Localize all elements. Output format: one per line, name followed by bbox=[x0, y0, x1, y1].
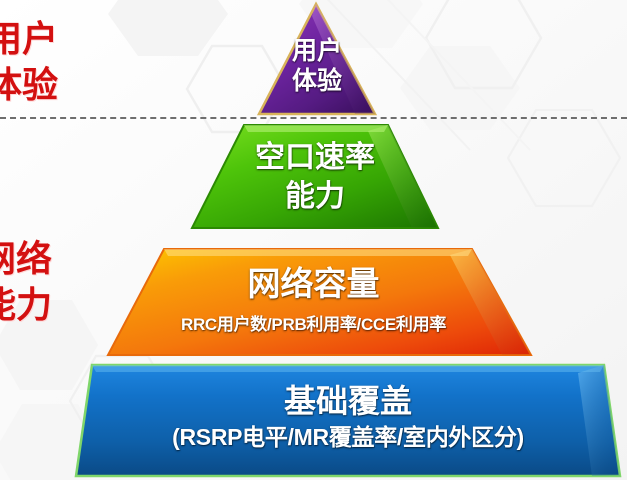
side-label-network-capability-line1: 网络 bbox=[0, 236, 52, 282]
pyramid-tier-air-interface-rate-shape bbox=[186, 120, 444, 234]
pyramid-tier-air-interface-rate[interactable]: 空口速率 能力 bbox=[186, 120, 444, 234]
pyramid-tier-network-capacity-shape bbox=[92, 245, 535, 359]
side-label-user-experience-line1: 用户 bbox=[0, 16, 58, 62]
side-label-network-capability-line2: 能力 bbox=[0, 282, 52, 328]
side-label-user-experience: 用户 体验 bbox=[0, 16, 58, 108]
pyramid-diagram-canvas: 用户 体验 网络 能力 基础覆盖 bbox=[0, 0, 627, 480]
side-label-user-experience-line2: 体验 bbox=[0, 62, 58, 108]
pyramid-tier-user-experience[interactable]: 用户 体验 bbox=[255, 0, 379, 120]
pyramid-tier-basic-coverage[interactable]: 基础覆盖 (RSRP电平/MR覆盖率/室内外区分) bbox=[72, 361, 624, 480]
pyramid-tier-network-capacity[interactable]: 网络容量 RRC用户数/PRB利用率/CCE利用率 bbox=[92, 245, 535, 359]
section-divider-dashed-line bbox=[0, 117, 627, 119]
pyramid-tier-basic-coverage-shape bbox=[72, 361, 624, 480]
side-label-network-capability: 网络 能力 bbox=[0, 236, 52, 328]
pyramid-tier-user-experience-shape bbox=[255, 0, 379, 120]
